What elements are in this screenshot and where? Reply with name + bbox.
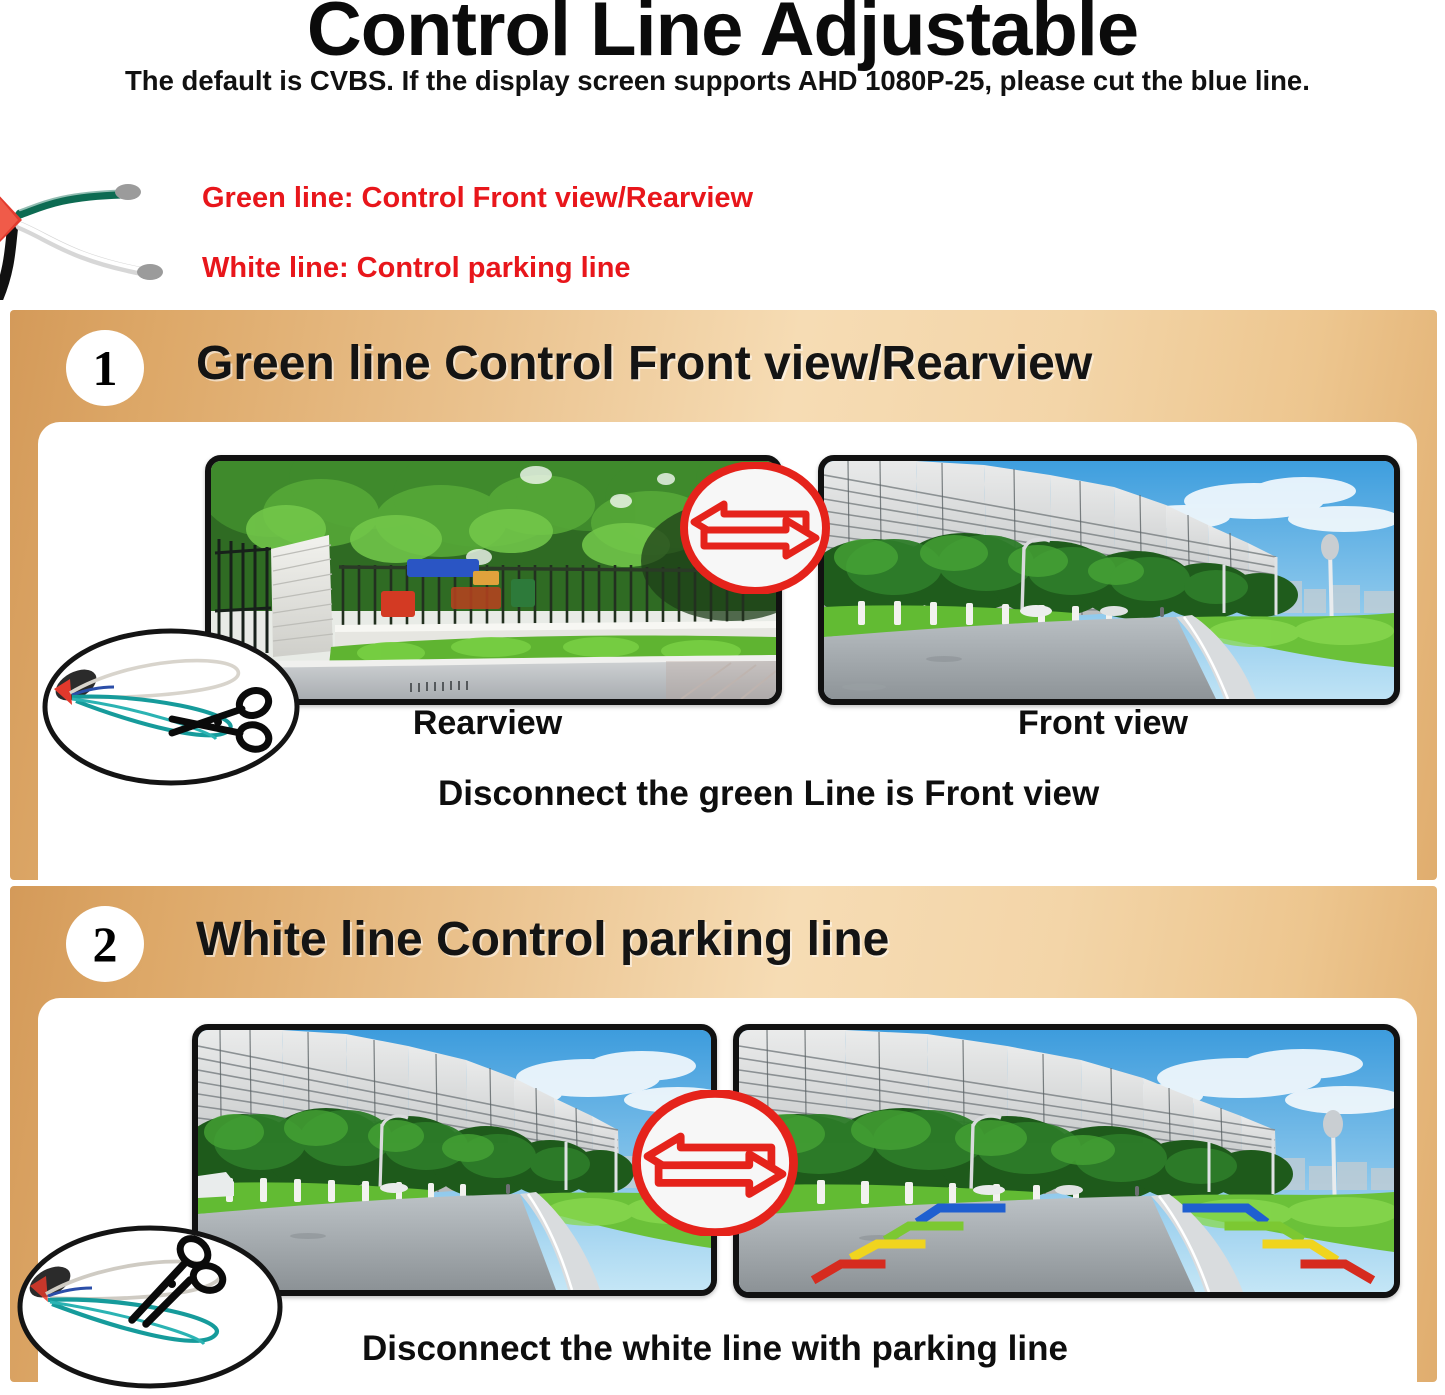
page-title: Control Line Adjustable (0, 0, 1445, 70)
front-view-with-parking-lines-photo[interactable] (733, 1024, 1400, 1298)
front-view-photo[interactable] (818, 455, 1400, 705)
section-1-bottom-caption: Disconnect the green Line is Front view (438, 774, 1099, 814)
section-2-heading: White line Control parking line (196, 912, 889, 967)
scissors-cut-white-wire-inset (14, 1224, 286, 1395)
section-2-content: Disconnect the white line with parking l… (0, 998, 1445, 1382)
swap-arrows-icon (680, 462, 830, 594)
legend-white-line: White line: Control parking line (202, 252, 631, 285)
section-1-content: Rearview Front view Disconnect the green… (0, 422, 1445, 880)
section-green-line: 1 Green line Control Front view/Rearview (0, 310, 1445, 880)
front-view-caption: Front view (818, 704, 1388, 743)
swap-arrows-icon (632, 1090, 782, 1222)
section-1-number-badge: 1 (66, 330, 144, 406)
wire-harness-illustration (0, 180, 192, 300)
legend-green-line: Green line: Control Front view/Rearview (202, 182, 753, 215)
page-subtitle: The default is CVBS. If the display scre… (125, 64, 1375, 98)
scissors-cut-green-wire-inset (40, 627, 302, 792)
intro-block: Control Line Adjustable The default is C… (0, 0, 1445, 310)
section-white-line: 2 White line Control parking line (0, 886, 1445, 1382)
section-2-bottom-caption: Disconnect the white line with parking l… (362, 1329, 1068, 1369)
section-2-number-badge: 2 (66, 906, 144, 982)
section-1-heading: Green line Control Front view/Rearview (196, 336, 1092, 391)
